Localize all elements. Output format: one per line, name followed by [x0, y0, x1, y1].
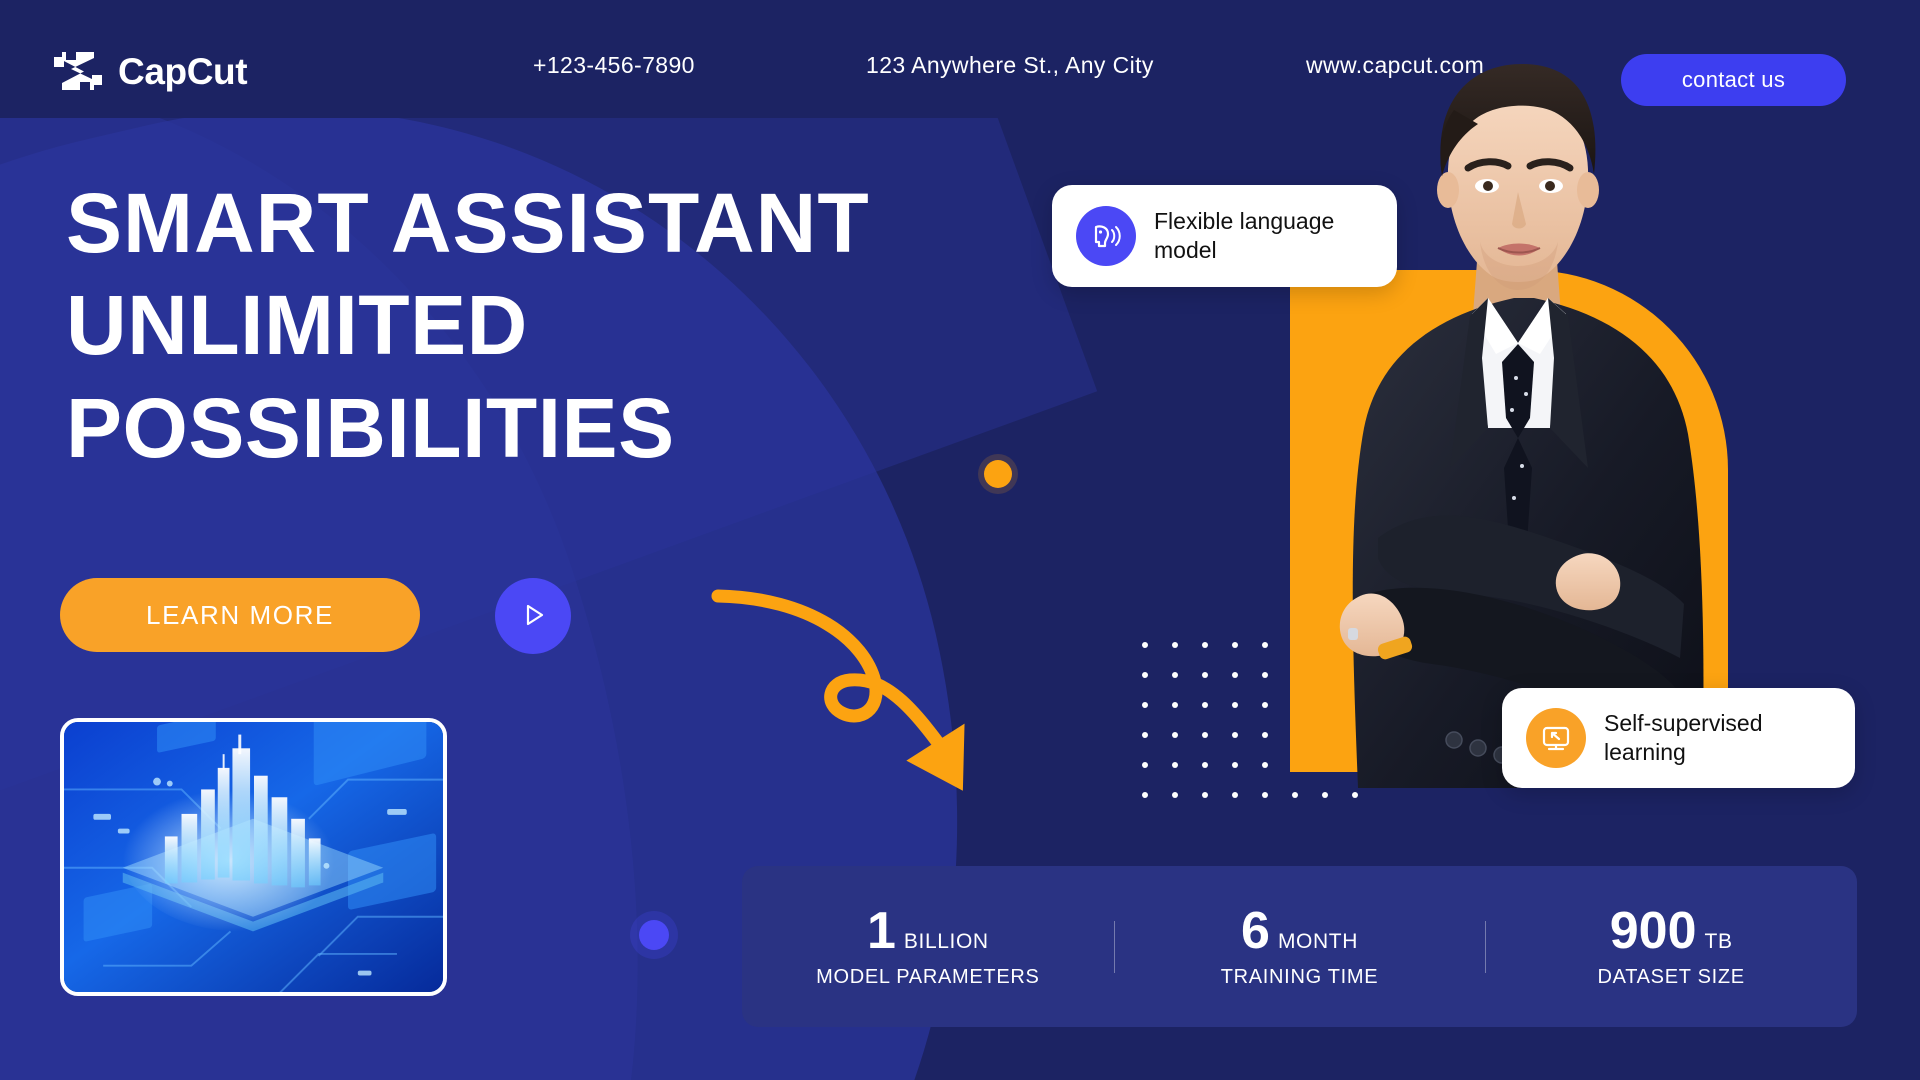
- play-triangle-icon: [516, 598, 550, 635]
- contact-us-button[interactable]: contact us: [1621, 54, 1846, 106]
- stat-unit: MONTH: [1278, 930, 1358, 954]
- badge-self-supervised-learning[interactable]: Self-supervised learning: [1502, 688, 1855, 788]
- headline-line-1: SMART ASSISTANT: [66, 172, 870, 274]
- stat-value: 900: [1610, 905, 1697, 957]
- stat-unit: TB: [1705, 930, 1733, 954]
- stat-label: TRAINING TIME: [1221, 966, 1379, 989]
- monitor-arrow-icon: [1526, 708, 1586, 768]
- stat-label: DATASET SIZE: [1598, 966, 1745, 989]
- stat-training-time: 6 MONTH TRAINING TIME: [1114, 905, 1486, 989]
- stat-model-parameters: 1 BILLION MODEL PARAMETERS: [742, 905, 1114, 989]
- stat-value: 6: [1241, 905, 1270, 957]
- learn-more-button[interactable]: LEARN MORE: [60, 578, 420, 652]
- businessman-photo: [1282, 0, 1752, 788]
- hero-headline: SMART ASSISTANT UNLIMITED POSSIBILITIES: [66, 172, 870, 479]
- stat-dataset-size: 900 TB DATASET SIZE: [1485, 905, 1857, 989]
- stat-label: MODEL PARAMETERS: [816, 966, 1039, 989]
- header-website[interactable]: www.capcut.com: [1306, 52, 1484, 79]
- speaking-face-icon: [1076, 206, 1136, 266]
- capcut-hourglass-icon: [52, 48, 104, 94]
- headline-line-3: POSSIBILITIES: [66, 377, 870, 479]
- curved-arrow-decoration: [700, 570, 1040, 850]
- blue-dot-decoration: [639, 920, 669, 950]
- badge-flexible-language-model[interactable]: Flexible language model: [1052, 185, 1397, 287]
- stats-bar: 1 BILLION MODEL PARAMETERS 6 MONTH TRAIN…: [742, 866, 1857, 1027]
- stat-unit: BILLION: [904, 930, 989, 954]
- header-phone[interactable]: +123-456-7890: [533, 52, 695, 79]
- promo-banner: CapCut +123-456-7890 123 Anywhere St., A…: [0, 0, 1920, 1080]
- brand-logo[interactable]: CapCut: [52, 48, 247, 94]
- badge-label: Self-supervised learning: [1604, 709, 1831, 768]
- play-video-button[interactable]: [495, 578, 571, 654]
- header-address[interactable]: 123 Anywhere St., Any City: [866, 52, 1154, 79]
- site-header: CapCut +123-456-7890 123 Anywhere St., A…: [0, 0, 1920, 118]
- orange-dot-decoration: [984, 460, 1012, 488]
- stat-value: 1: [867, 905, 896, 957]
- circuit-city-thumbnail[interactable]: [60, 718, 447, 996]
- headline-line-2: UNLIMITED: [66, 274, 870, 376]
- brand-name: CapCut: [118, 53, 247, 90]
- badge-label: Flexible language model: [1154, 207, 1373, 266]
